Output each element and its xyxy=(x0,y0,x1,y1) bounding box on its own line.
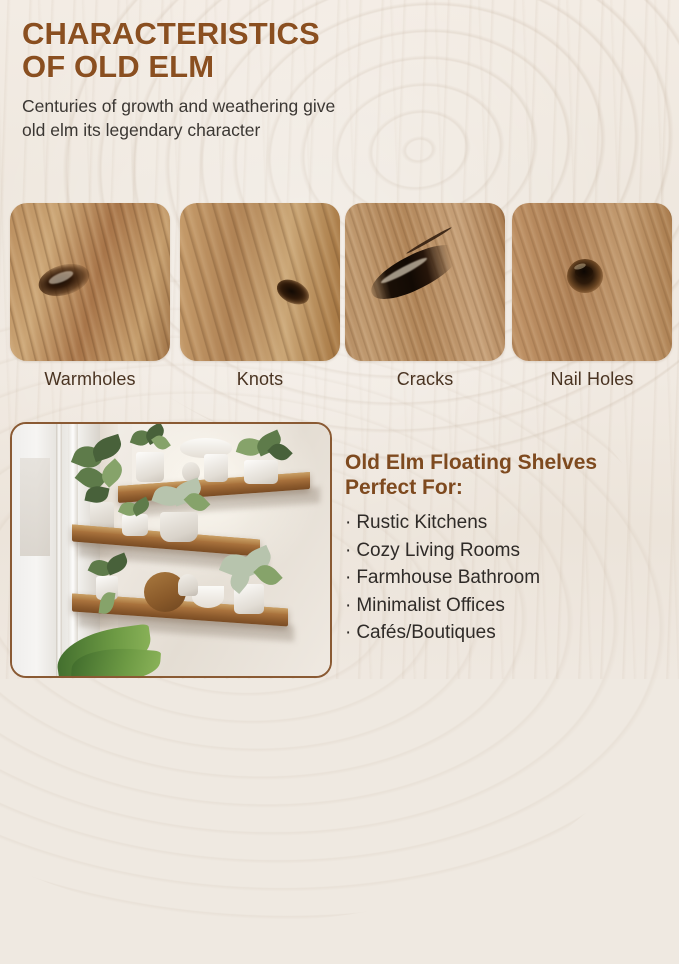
photo-pot-large-gray xyxy=(160,512,198,542)
list-item: ·Farmhouse Bathroom xyxy=(345,564,675,592)
list-item: ·Minimalist Offices xyxy=(345,592,675,620)
photo-pot-succulent xyxy=(122,514,148,536)
lifestyle-photo-floating-shelves xyxy=(10,422,332,678)
swatch-card-cracks[interactable]: Cracks xyxy=(345,203,505,361)
photo-pot-white-2 xyxy=(244,460,278,484)
bullet-icon: · xyxy=(345,540,351,561)
list-item-label: Farmhouse Bathroom xyxy=(356,567,540,588)
swatch-image-cracks xyxy=(345,203,505,361)
swatch-image-knots xyxy=(180,203,340,361)
wood-swatch-knot-icon xyxy=(180,203,340,361)
photo-pot-white-1 xyxy=(136,452,164,482)
swatch-caption: Warmholes xyxy=(10,369,170,390)
swatch-card-nail-holes[interactable]: Nail Holes xyxy=(512,203,672,361)
bullet-icon: · xyxy=(345,622,351,643)
bullet-icon: · xyxy=(345,595,351,616)
wood-swatch-crack-icon xyxy=(345,203,505,361)
use-case-list: ·Rustic Kitchens ·Cozy Living Rooms ·Far… xyxy=(345,509,675,647)
wood-swatch-warmhole-icon xyxy=(10,203,170,361)
swatch-caption: Knots xyxy=(180,369,340,390)
swatch-image-warmholes xyxy=(10,203,170,361)
list-item: ·Cafés/Boutiques xyxy=(345,619,675,647)
bullet-icon: · xyxy=(345,512,351,533)
swatch-caption: Nail Holes xyxy=(512,369,672,390)
page-subtitle-line-2: old elm its legendary character xyxy=(22,120,260,140)
photo-pot-small-2 xyxy=(178,574,198,596)
info-heading-line-2: Perfect For: xyxy=(345,476,463,499)
page-title-line-2: OF OLD ELM xyxy=(22,49,214,84)
info-heading-line-1: Old Elm Floating Shelves xyxy=(345,451,597,474)
page-subtitle-line-1: Centuries of growth and weathering give xyxy=(22,96,335,116)
info-block: Old Elm Floating Shelves Perfect For: ·R… xyxy=(345,450,675,647)
swatch-card-warmholes[interactable]: Warmholes xyxy=(10,203,170,361)
list-item-label: Minimalist Offices xyxy=(356,595,505,616)
photo-vase-white xyxy=(204,454,228,482)
bullet-icon: · xyxy=(345,567,351,588)
header: CHARACTERISTICS OF OLD ELM Centuries of … xyxy=(22,17,452,142)
list-item-label: Rustic Kitchens xyxy=(356,512,487,533)
page-title: CHARACTERISTICS OF OLD ELM xyxy=(22,17,452,83)
list-item: ·Cozy Living Rooms xyxy=(345,537,675,565)
page-subtitle: Centuries of growth and weathering give … xyxy=(22,94,452,142)
wood-swatch-nailhole-icon xyxy=(512,203,672,361)
list-item-label: Cozy Living Rooms xyxy=(356,540,520,561)
characteristics-swatch-row: Warmholes Knots Cracks xyxy=(0,203,679,393)
swatch-image-nail-holes xyxy=(512,203,672,361)
swatch-card-knots[interactable]: Knots xyxy=(180,203,340,361)
list-item-label: Cafés/Boutiques xyxy=(356,622,495,643)
page-title-line-1: CHARACTERISTICS xyxy=(22,16,320,51)
swatch-caption: Cracks xyxy=(345,369,505,390)
info-heading: Old Elm Floating Shelves Perfect For: xyxy=(345,450,675,500)
list-item: ·Rustic Kitchens xyxy=(345,509,675,537)
